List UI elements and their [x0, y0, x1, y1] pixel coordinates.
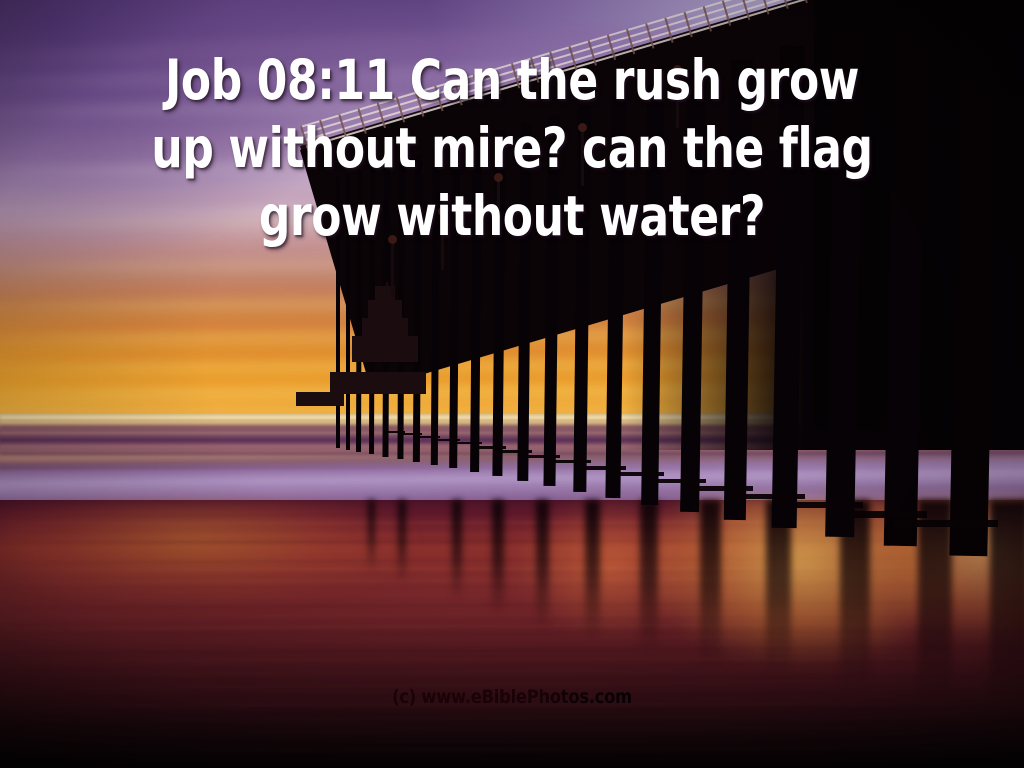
copyright-credit-label: (c) www.eBiblePhotos.com	[392, 686, 632, 708]
verse-image: Job 08:11 Can the rush grow up without m…	[0, 0, 1024, 768]
copyright-credit: (c) www.eBiblePhotos.com	[72, 686, 953, 708]
verse-text: Job 08:11 Can the rush grow up without m…	[102, 46, 921, 250]
